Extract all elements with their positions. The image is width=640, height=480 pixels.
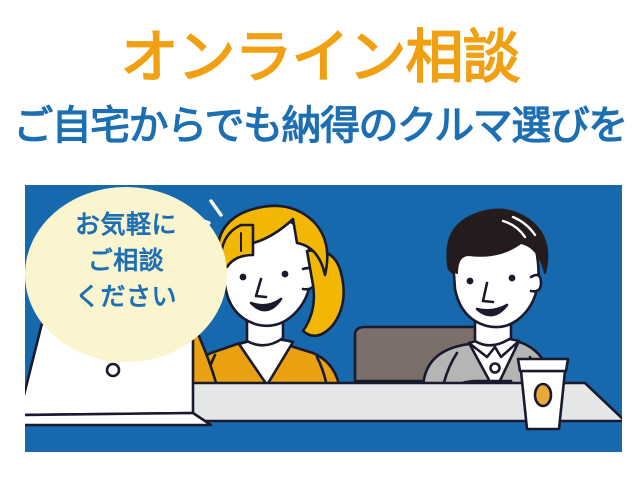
illustration-panel: お気軽に ご相談 ください <box>25 185 622 452</box>
page-title: オンライン相談 <box>0 27 640 89</box>
badge-text: お気軽に ご相談 ください <box>25 207 227 315</box>
badge-line-3: ください <box>25 279 227 315</box>
coffee-cup <box>518 359 568 429</box>
headline-area: オンライン相談 ご自宅からでも納得のクルマ選びを <box>0 0 640 175</box>
page-subtitle: ご自宅からでも納得のクルマ選びを <box>0 102 640 150</box>
online-consultation-banner: オンライン相談 ご自宅からでも納得のクルマ選びを <box>0 0 640 480</box>
badge-line-2: ご相談 <box>25 243 227 279</box>
badge-line-1: お気軽に <box>25 207 227 243</box>
